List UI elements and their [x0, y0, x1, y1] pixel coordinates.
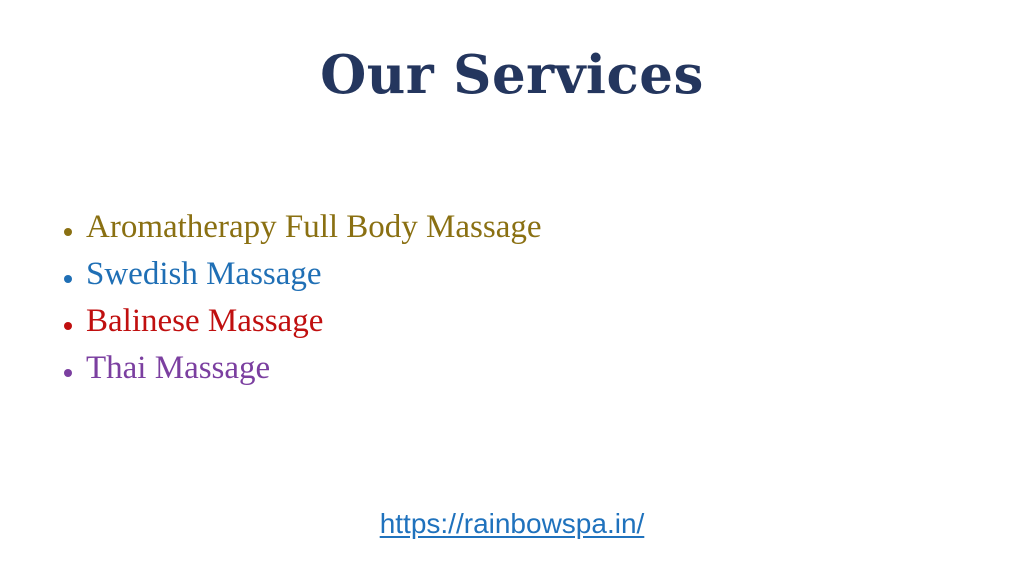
list-item: Swedish Massage: [60, 251, 940, 298]
page-title: Our Services: [0, 44, 1024, 106]
service-label: Aromatherapy Full Body Massage: [86, 204, 542, 251]
service-label: Swedish Massage: [86, 251, 322, 298]
service-label: Thai Massage: [86, 345, 270, 392]
list-item: Aromatherapy Full Body Massage: [60, 204, 940, 251]
website-link[interactable]: https://rainbowspa.in/: [0, 505, 1024, 543]
list-item: Balinese Massage: [60, 298, 940, 345]
list-item: Thai Massage: [60, 345, 940, 392]
services-list: Aromatherapy Full Body Massage Swedish M…: [60, 204, 940, 392]
service-label: Balinese Massage: [86, 298, 323, 345]
slide-canvas: Our Services Aromatherapy Full Body Mass…: [0, 0, 1024, 576]
